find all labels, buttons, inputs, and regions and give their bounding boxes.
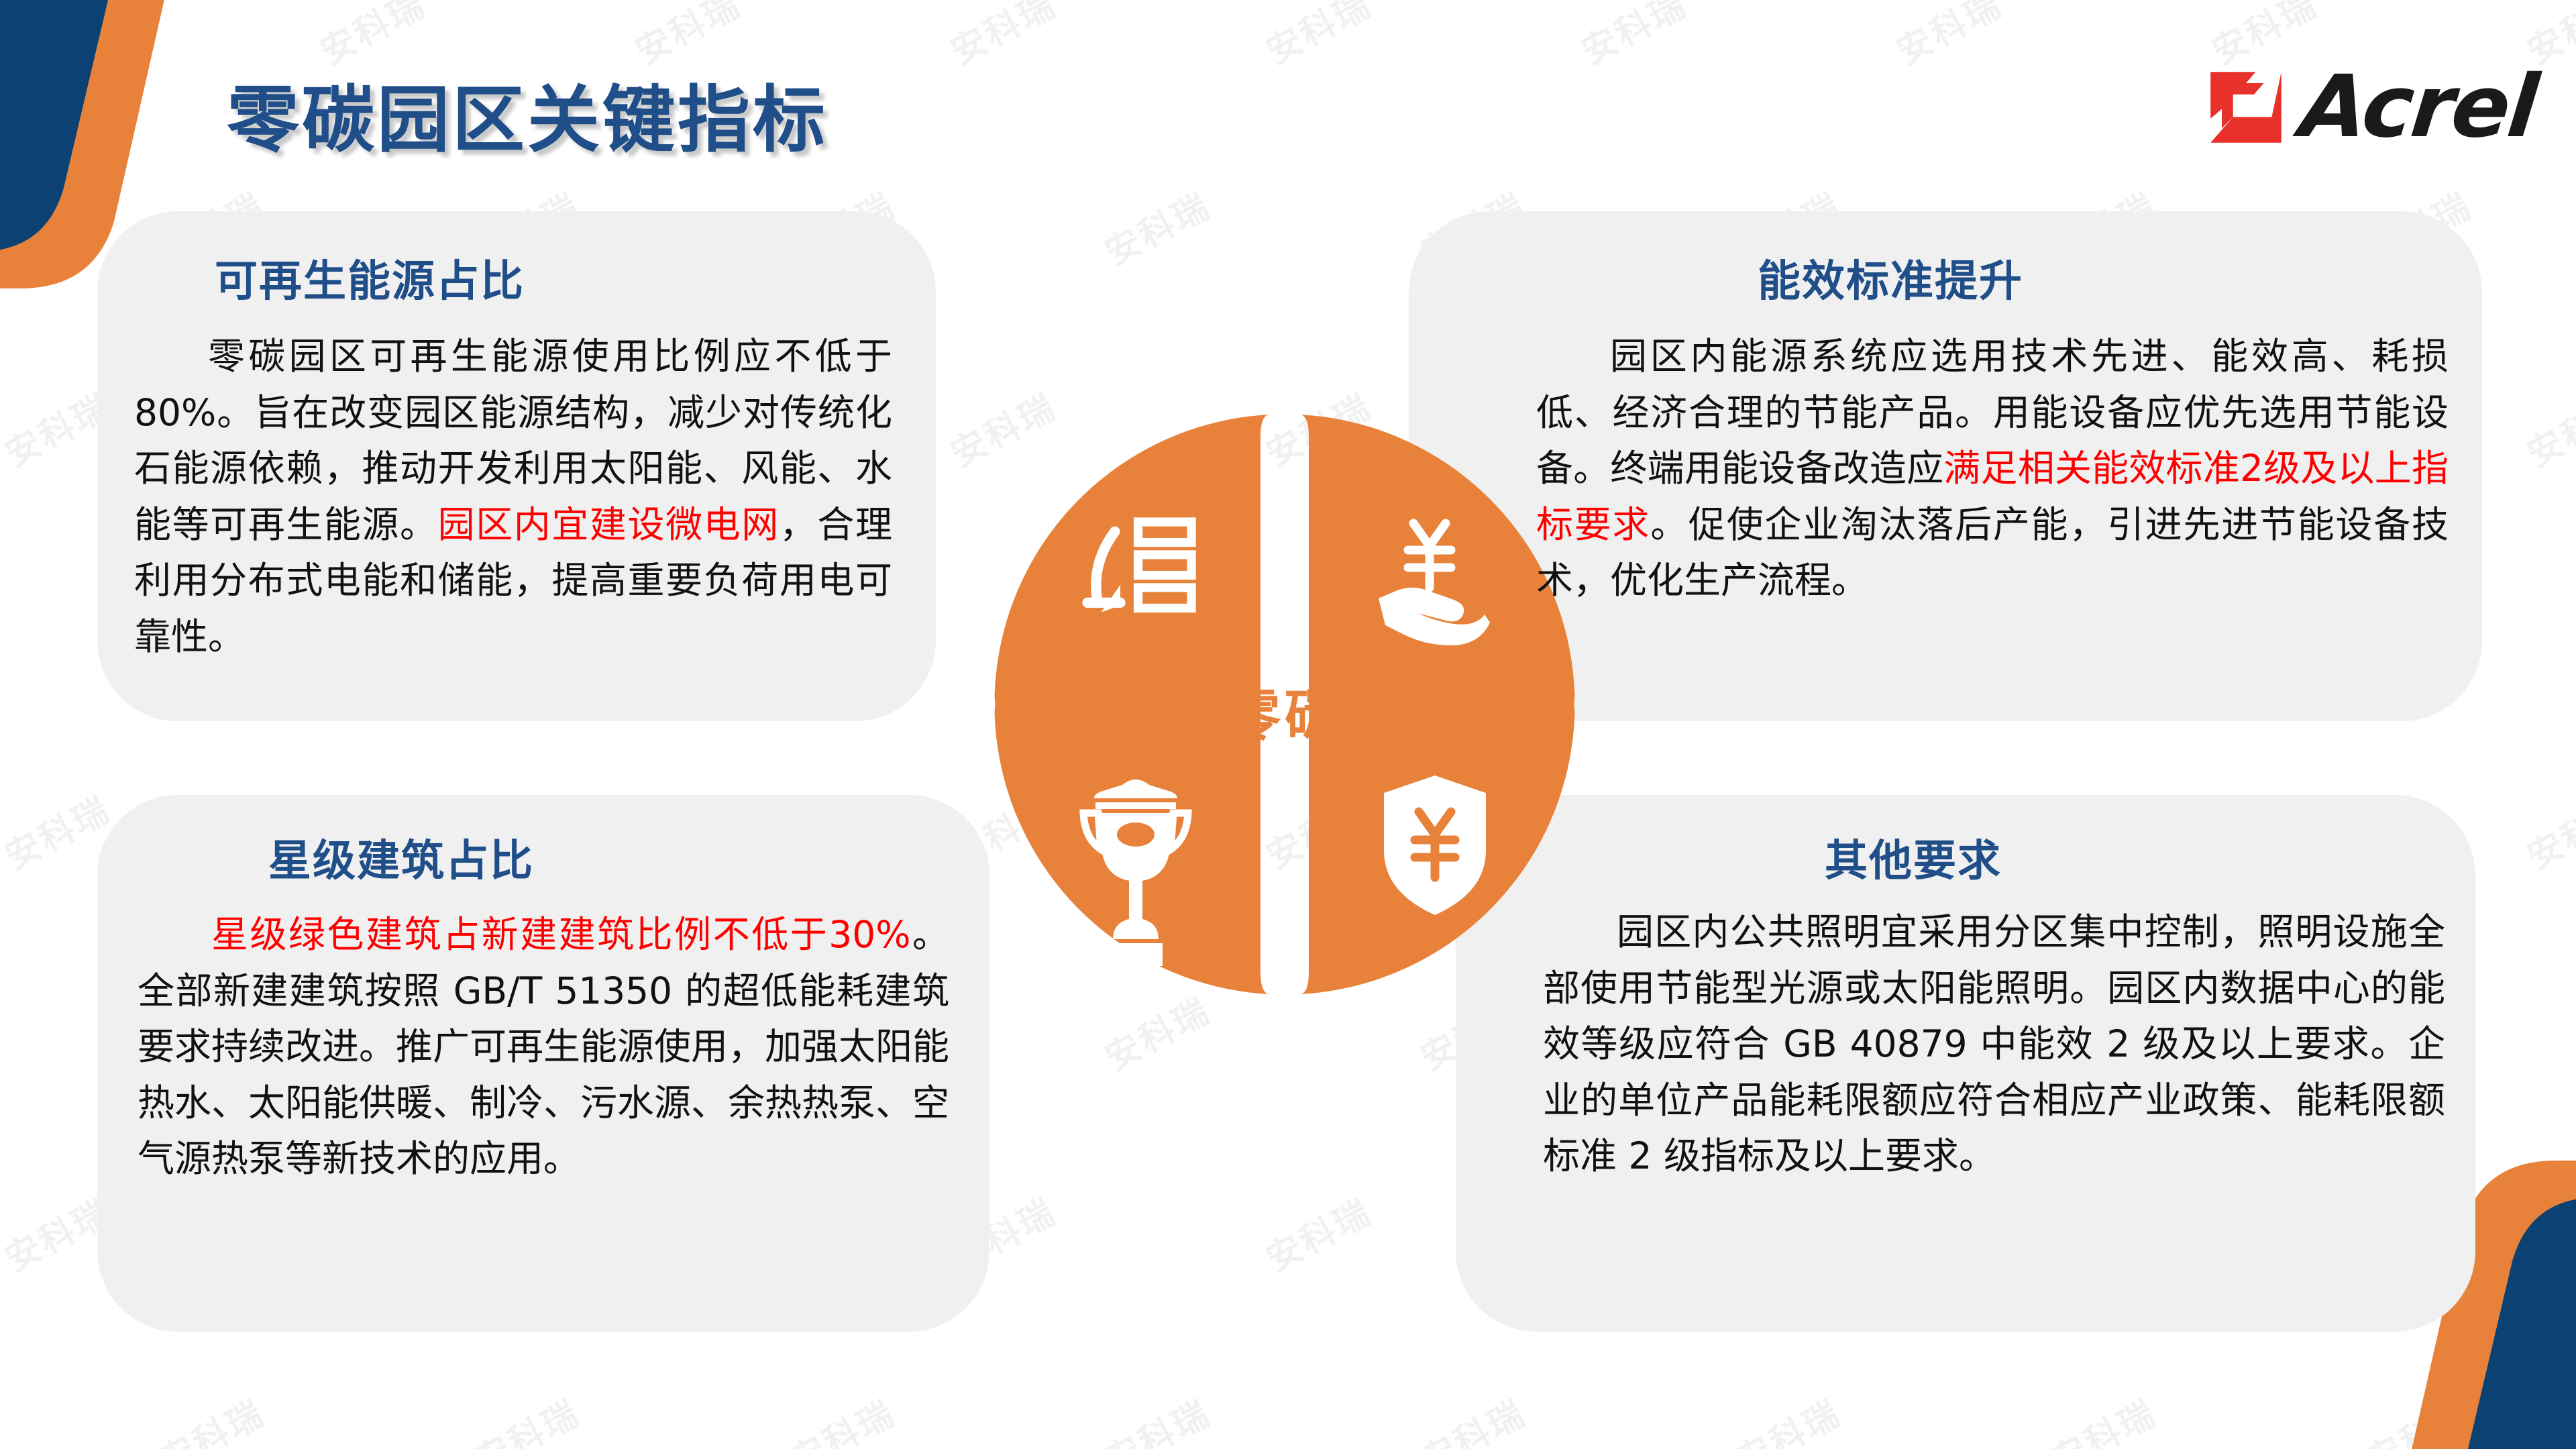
acrel-logo-text: Acrel [2296,64,2540,150]
card-body-other-requirements: 园区内公共照明宜采用分区集中控制，照明设施全部使用节能型光源或太阳能照明。园区内… [1543,904,2445,1185]
watermark-text: 安科瑞 [1571,0,1695,74]
card-title-star-building-share: 星级建筑占比 [268,826,534,888]
body-highlight: 园区内宜建设微电网 [438,503,780,546]
brand-logo: Acrel [2206,64,2536,150]
body-pre: 园区内公共照明宜采用分区集中控制，照明设施全部使用节能型光源或太阳能照明。园区内… [1543,910,2445,1177]
card-title-other-requirements: 其他要求 [1825,826,2002,888]
card-title-efficiency-standard: 能效标准提升 [1758,247,2023,309]
watermark-text: 安科瑞 [1256,0,1379,74]
watermark-text: 安科瑞 [464,1385,588,1449]
watermark-text: 安科瑞 [1095,1385,1218,1449]
watermark-text: 安科瑞 [2517,379,2576,476]
watermark-text: 安科瑞 [1095,178,1218,275]
card-body-star-building-share: 星级绿色建筑占新建建筑比例不低于30%。全部新建建筑按照 GB/T 51350 … [138,907,949,1187]
watermark-text: 安科瑞 [1886,0,2010,74]
watermark-text: 安科瑞 [1256,1184,1379,1281]
body-highlight: 星级绿色建筑占新建建筑比例不低于30% [211,913,910,956]
watermark-text: 安科瑞 [1725,1385,1849,1449]
card-title-renewable-share: 可再生能源占比 [215,247,525,309]
body-post: 。促使企业淘汰落后产能，引进先进节能设备技术，优化生产流程。 [1536,503,2449,602]
watermark-text: 安科瑞 [149,1385,272,1449]
watermark-text: 安科瑞 [941,0,1064,74]
acrel-logo-mark-icon [2206,67,2286,148]
zero-carbon-donut-diagram [983,402,1587,1006]
watermark-text: 安科瑞 [780,1385,903,1449]
watermark-text: 安科瑞 [1410,1385,1534,1449]
watermark-text: 安科瑞 [2041,1385,2164,1449]
card-body-renewable-share: 零碳园区可再生能源使用比例应不低于 80%。旨在改变园区能源结构，减少对传统化石… [134,329,892,665]
slide-canvas: 安科瑞安科瑞安科瑞安科瑞安科瑞安科瑞安科瑞安科瑞安科瑞安科瑞安科瑞安科瑞安科瑞安… [0,0,2576,1449]
watermark-text: 安科瑞 [2517,782,2576,879]
card-body-efficiency-standard: 园区内能源系统应选用技术先进、能效高、耗损低、经济合理的节能产品。用能设备应优先… [1536,329,2449,609]
page-title: 零碳园区关键指标 [227,62,828,166]
